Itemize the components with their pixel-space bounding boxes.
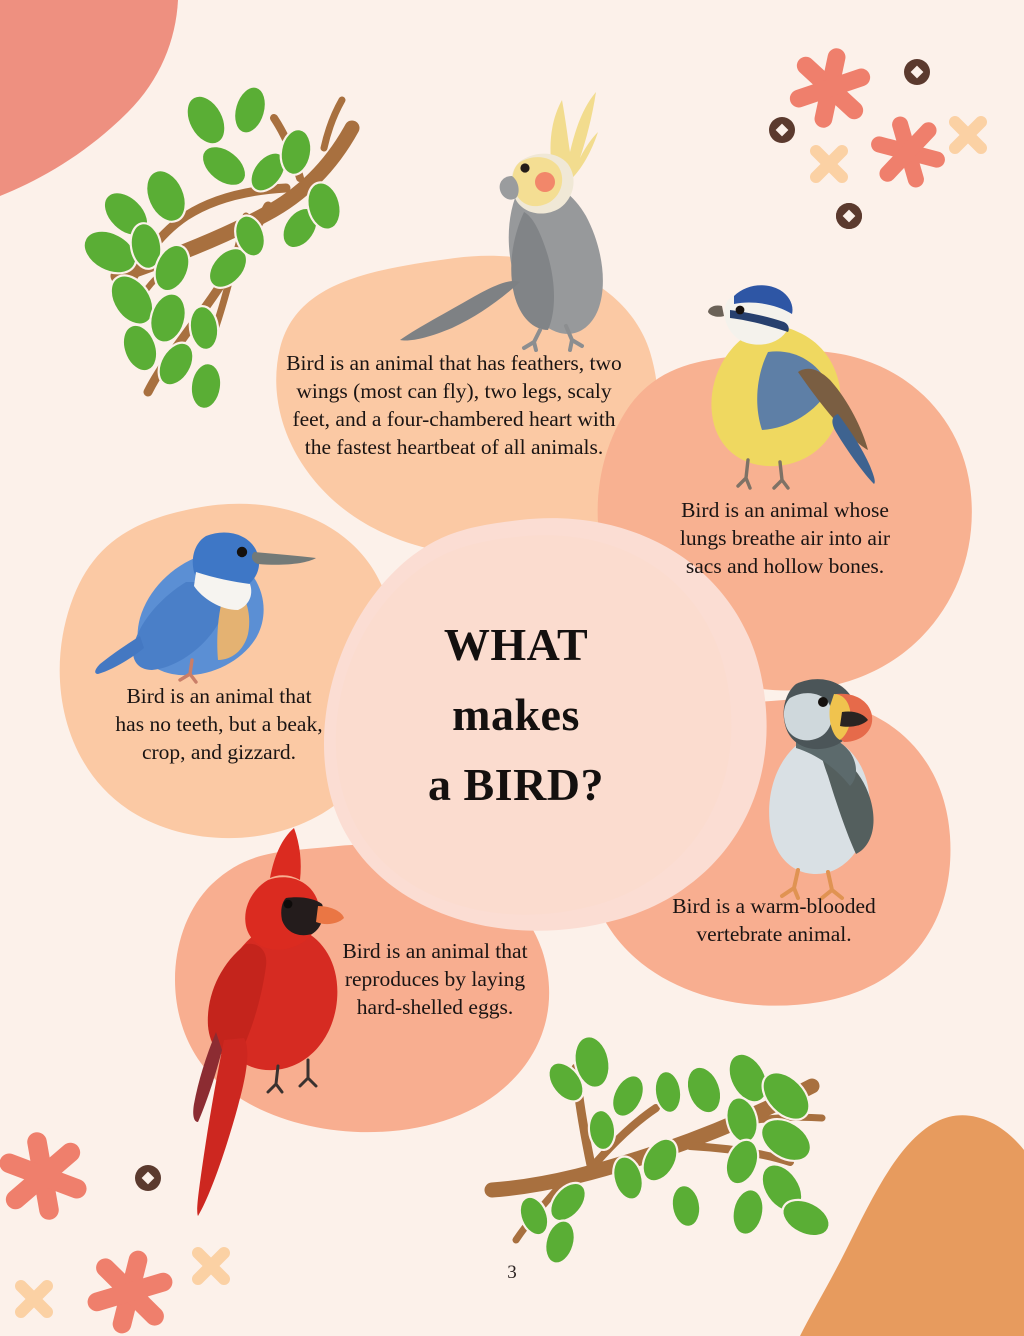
poster-page: Bird is an animal that has feathers, two… (0, 0, 1024, 1336)
page-number: 3 (0, 1262, 1024, 1284)
fact-text-teeth: Bird is an animal that has no teeth, but… (112, 683, 326, 767)
fact-text-eggs: Bird is an animal that reproduces by lay… (330, 938, 540, 1022)
page-title: WHAT makes a BIRD? (366, 610, 666, 820)
fact-text-lungs: Bird is an animal whose lungs breathe ai… (676, 497, 894, 581)
fact-text-feathers: Bird is an animal that has feathers, two… (284, 350, 624, 462)
cardinal-beak (316, 906, 344, 924)
cardinal-crest (270, 828, 301, 880)
cardinal-eye (284, 900, 293, 909)
fact-text-warm-blooded: Bird is a warm-blooded vertebrate animal… (664, 893, 884, 949)
